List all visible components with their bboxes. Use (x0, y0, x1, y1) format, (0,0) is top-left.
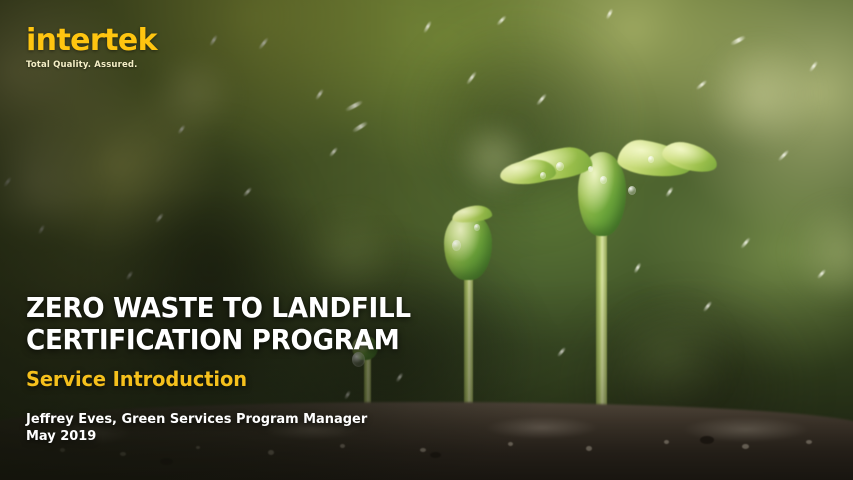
soil-speck (120, 452, 126, 456)
logo-tagline: Total Quality. Assured. (26, 61, 157, 70)
soil-speck (742, 444, 749, 449)
soil-pebble (160, 458, 173, 465)
slide-title: ZERO WASTE TO LANDFILL CERTIFICATION PRO… (26, 293, 561, 356)
water-droplet (452, 240, 461, 251)
slide-byline: Jeffrey Eves, Green Services Program Man… (26, 411, 564, 446)
soil-speck (196, 446, 200, 449)
soil-speck (664, 440, 669, 444)
presentation-slide: intertek Total Quality. Assured. ZERO WA… (0, 0, 853, 480)
soil-speck (806, 440, 812, 444)
soil-speck (268, 450, 274, 455)
logo-wordmark: intertek (26, 26, 157, 56)
soil-speck (420, 448, 426, 452)
slide-subtitle: Service Introduction (26, 367, 569, 391)
soil-speck (60, 448, 65, 452)
water-droplet (474, 224, 480, 231)
water-droplet (540, 172, 546, 179)
soil-pebble (430, 452, 441, 458)
water-droplet (600, 176, 607, 184)
water-droplet (556, 162, 564, 171)
soil-speck (586, 446, 592, 451)
soil-pebble (700, 436, 714, 444)
slide-text-block: ZERO WASTE TO LANDFILL CERTIFICATION PRO… (26, 293, 586, 446)
water-droplet (588, 166, 593, 172)
intertek-logo: intertek Total Quality. Assured. (26, 26, 157, 70)
water-droplet (648, 156, 654, 163)
water-droplet (628, 186, 636, 195)
